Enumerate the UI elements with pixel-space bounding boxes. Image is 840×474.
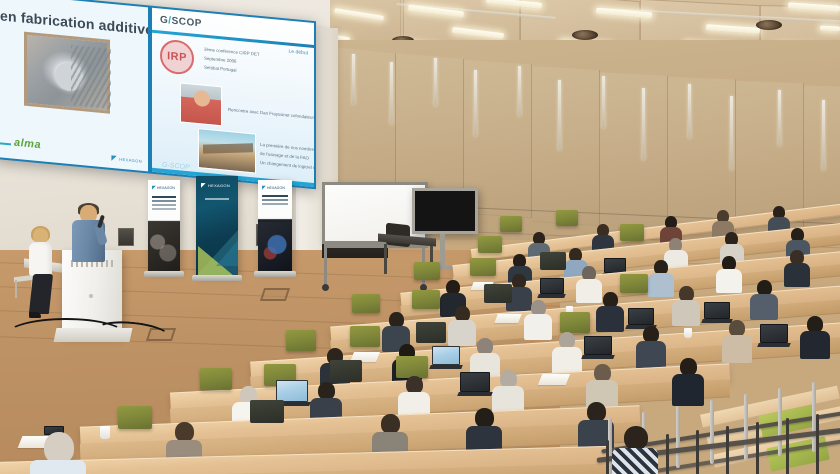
slide-line-2: Septembre 2006 bbox=[204, 56, 236, 64]
laptop[interactable] bbox=[432, 346, 460, 365]
seat[interactable] bbox=[350, 326, 380, 347]
banner-left-logo: HEXAGON bbox=[152, 185, 175, 191]
projection-screen: en fabrication additive alma HEXAGON G/S… bbox=[0, 0, 316, 189]
wall-flat-screen-tv[interactable] bbox=[412, 188, 478, 234]
wall-speaker bbox=[118, 228, 134, 246]
banner-center-logo: HEXAGON bbox=[201, 182, 230, 189]
seat[interactable] bbox=[414, 262, 440, 280]
audience-person bbox=[524, 300, 552, 334]
audience-person bbox=[492, 370, 524, 412]
wall-light-strip bbox=[822, 100, 825, 170]
wall-light-strip bbox=[518, 66, 521, 116]
wall-light-strip bbox=[474, 70, 477, 136]
wall-light-strip bbox=[642, 88, 645, 160]
alma-logo: alma bbox=[14, 137, 41, 152]
seat[interactable] bbox=[352, 294, 380, 313]
coffee-cup bbox=[684, 328, 692, 338]
audience-person bbox=[672, 358, 704, 400]
gscop-logo: G/SCOP bbox=[160, 14, 202, 29]
seated-audience bbox=[0, 250, 840, 474]
irp-badge: IRP bbox=[160, 38, 194, 75]
audience-person bbox=[612, 426, 658, 474]
railing-baluster bbox=[786, 418, 789, 474]
wall-light-strip bbox=[778, 90, 781, 146]
seat[interactable] bbox=[118, 406, 152, 429]
laptop[interactable] bbox=[584, 336, 612, 355]
slide-caption-1: Rencontre avec Dan Frayssinet cofondateu… bbox=[228, 107, 314, 124]
laptop[interactable] bbox=[628, 308, 654, 325]
slide-line-1: 3ème conférence CIRP DET bbox=[204, 47, 260, 57]
laptop[interactable] bbox=[760, 324, 788, 343]
audience-person bbox=[448, 306, 476, 340]
laptop[interactable] bbox=[704, 302, 730, 319]
paper-sheet bbox=[538, 374, 570, 385]
railing-baluster bbox=[756, 422, 759, 474]
slide-line-3: Setúbal Portugal bbox=[204, 65, 236, 73]
audience-person bbox=[398, 376, 430, 418]
wall-light-strip bbox=[688, 84, 691, 138]
slide-portrait-photo bbox=[180, 82, 222, 126]
laptop[interactable] bbox=[540, 278, 564, 294]
audience-person bbox=[636, 326, 666, 364]
seat[interactable] bbox=[484, 284, 512, 303]
paper-sheet bbox=[494, 314, 522, 323]
laptop[interactable] bbox=[604, 258, 626, 273]
seat[interactable] bbox=[286, 330, 316, 351]
laptop[interactable] bbox=[276, 380, 308, 402]
slide-venue-photo bbox=[198, 128, 256, 173]
seat[interactable] bbox=[250, 400, 284, 423]
wall-light-strip bbox=[352, 54, 355, 104]
audience-person bbox=[672, 286, 700, 320]
wall-light-strip bbox=[390, 62, 393, 124]
hexagon-logo: HEXAGON bbox=[111, 154, 142, 165]
railing-baluster bbox=[816, 414, 819, 474]
railing-baluster bbox=[606, 440, 609, 474]
seat[interactable] bbox=[416, 322, 446, 343]
railing-baluster bbox=[666, 434, 669, 474]
slide-right: G/SCOP Le début IRP 3ème conférence CIRP… bbox=[152, 8, 314, 187]
audience-person bbox=[30, 432, 86, 474]
railing-baluster bbox=[726, 426, 729, 474]
audience-person bbox=[800, 316, 830, 354]
railing-baluster bbox=[696, 430, 699, 474]
audience-person bbox=[382, 312, 410, 346]
seat[interactable] bbox=[470, 258, 496, 276]
audience-person bbox=[466, 408, 502, 454]
ceiling-speaker bbox=[756, 20, 782, 30]
ceiling-speaker bbox=[572, 30, 598, 40]
audience-person bbox=[784, 250, 810, 282]
seat[interactable] bbox=[412, 290, 440, 309]
wall-light-strip bbox=[558, 80, 561, 150]
slide-left: en fabrication additive alma HEXAGON bbox=[0, 0, 148, 171]
lecture-hall-photo: en fabrication additive alma HEXAGON G/S… bbox=[0, 0, 840, 474]
banner-right-logo: HEXAGON bbox=[262, 185, 285, 191]
seat[interactable] bbox=[620, 274, 648, 293]
seat[interactable] bbox=[200, 368, 232, 390]
slide-corner-note: Le début bbox=[289, 49, 308, 57]
audience-person bbox=[722, 320, 752, 358]
seat[interactable] bbox=[560, 312, 590, 333]
audience-person bbox=[648, 260, 674, 292]
seat[interactable] bbox=[540, 252, 566, 270]
audience-person bbox=[552, 332, 582, 370]
banner-center-subtitle bbox=[205, 198, 229, 200]
coffee-cup bbox=[100, 426, 110, 439]
laptop[interactable] bbox=[460, 372, 490, 392]
slide-left-title: en fabrication additive bbox=[0, 7, 148, 37]
wall-light-strip bbox=[730, 96, 733, 170]
slide-left-image bbox=[24, 32, 110, 114]
seat[interactable] bbox=[500, 216, 522, 232]
audience-person bbox=[716, 256, 742, 288]
seat[interactable] bbox=[556, 210, 578, 226]
slide-caption-2-line-2: de l'usinage et de la FAO bbox=[260, 151, 309, 161]
seat[interactable] bbox=[620, 224, 644, 241]
seat[interactable] bbox=[396, 356, 428, 378]
banner-right-text-block bbox=[262, 195, 288, 197]
wall-light-strip bbox=[602, 76, 605, 128]
slide-caption-2-line-3: Un changement de logiciel de FAO pour 3 … bbox=[260, 160, 314, 174]
audience-person bbox=[750, 280, 778, 314]
seat[interactable] bbox=[330, 360, 362, 382]
ceiling-light-fixture bbox=[820, 25, 840, 31]
banner-left-text-block bbox=[152, 196, 176, 198]
seat[interactable] bbox=[478, 236, 502, 253]
audience-person bbox=[596, 292, 624, 326]
wall-light-strip bbox=[434, 58, 437, 106]
